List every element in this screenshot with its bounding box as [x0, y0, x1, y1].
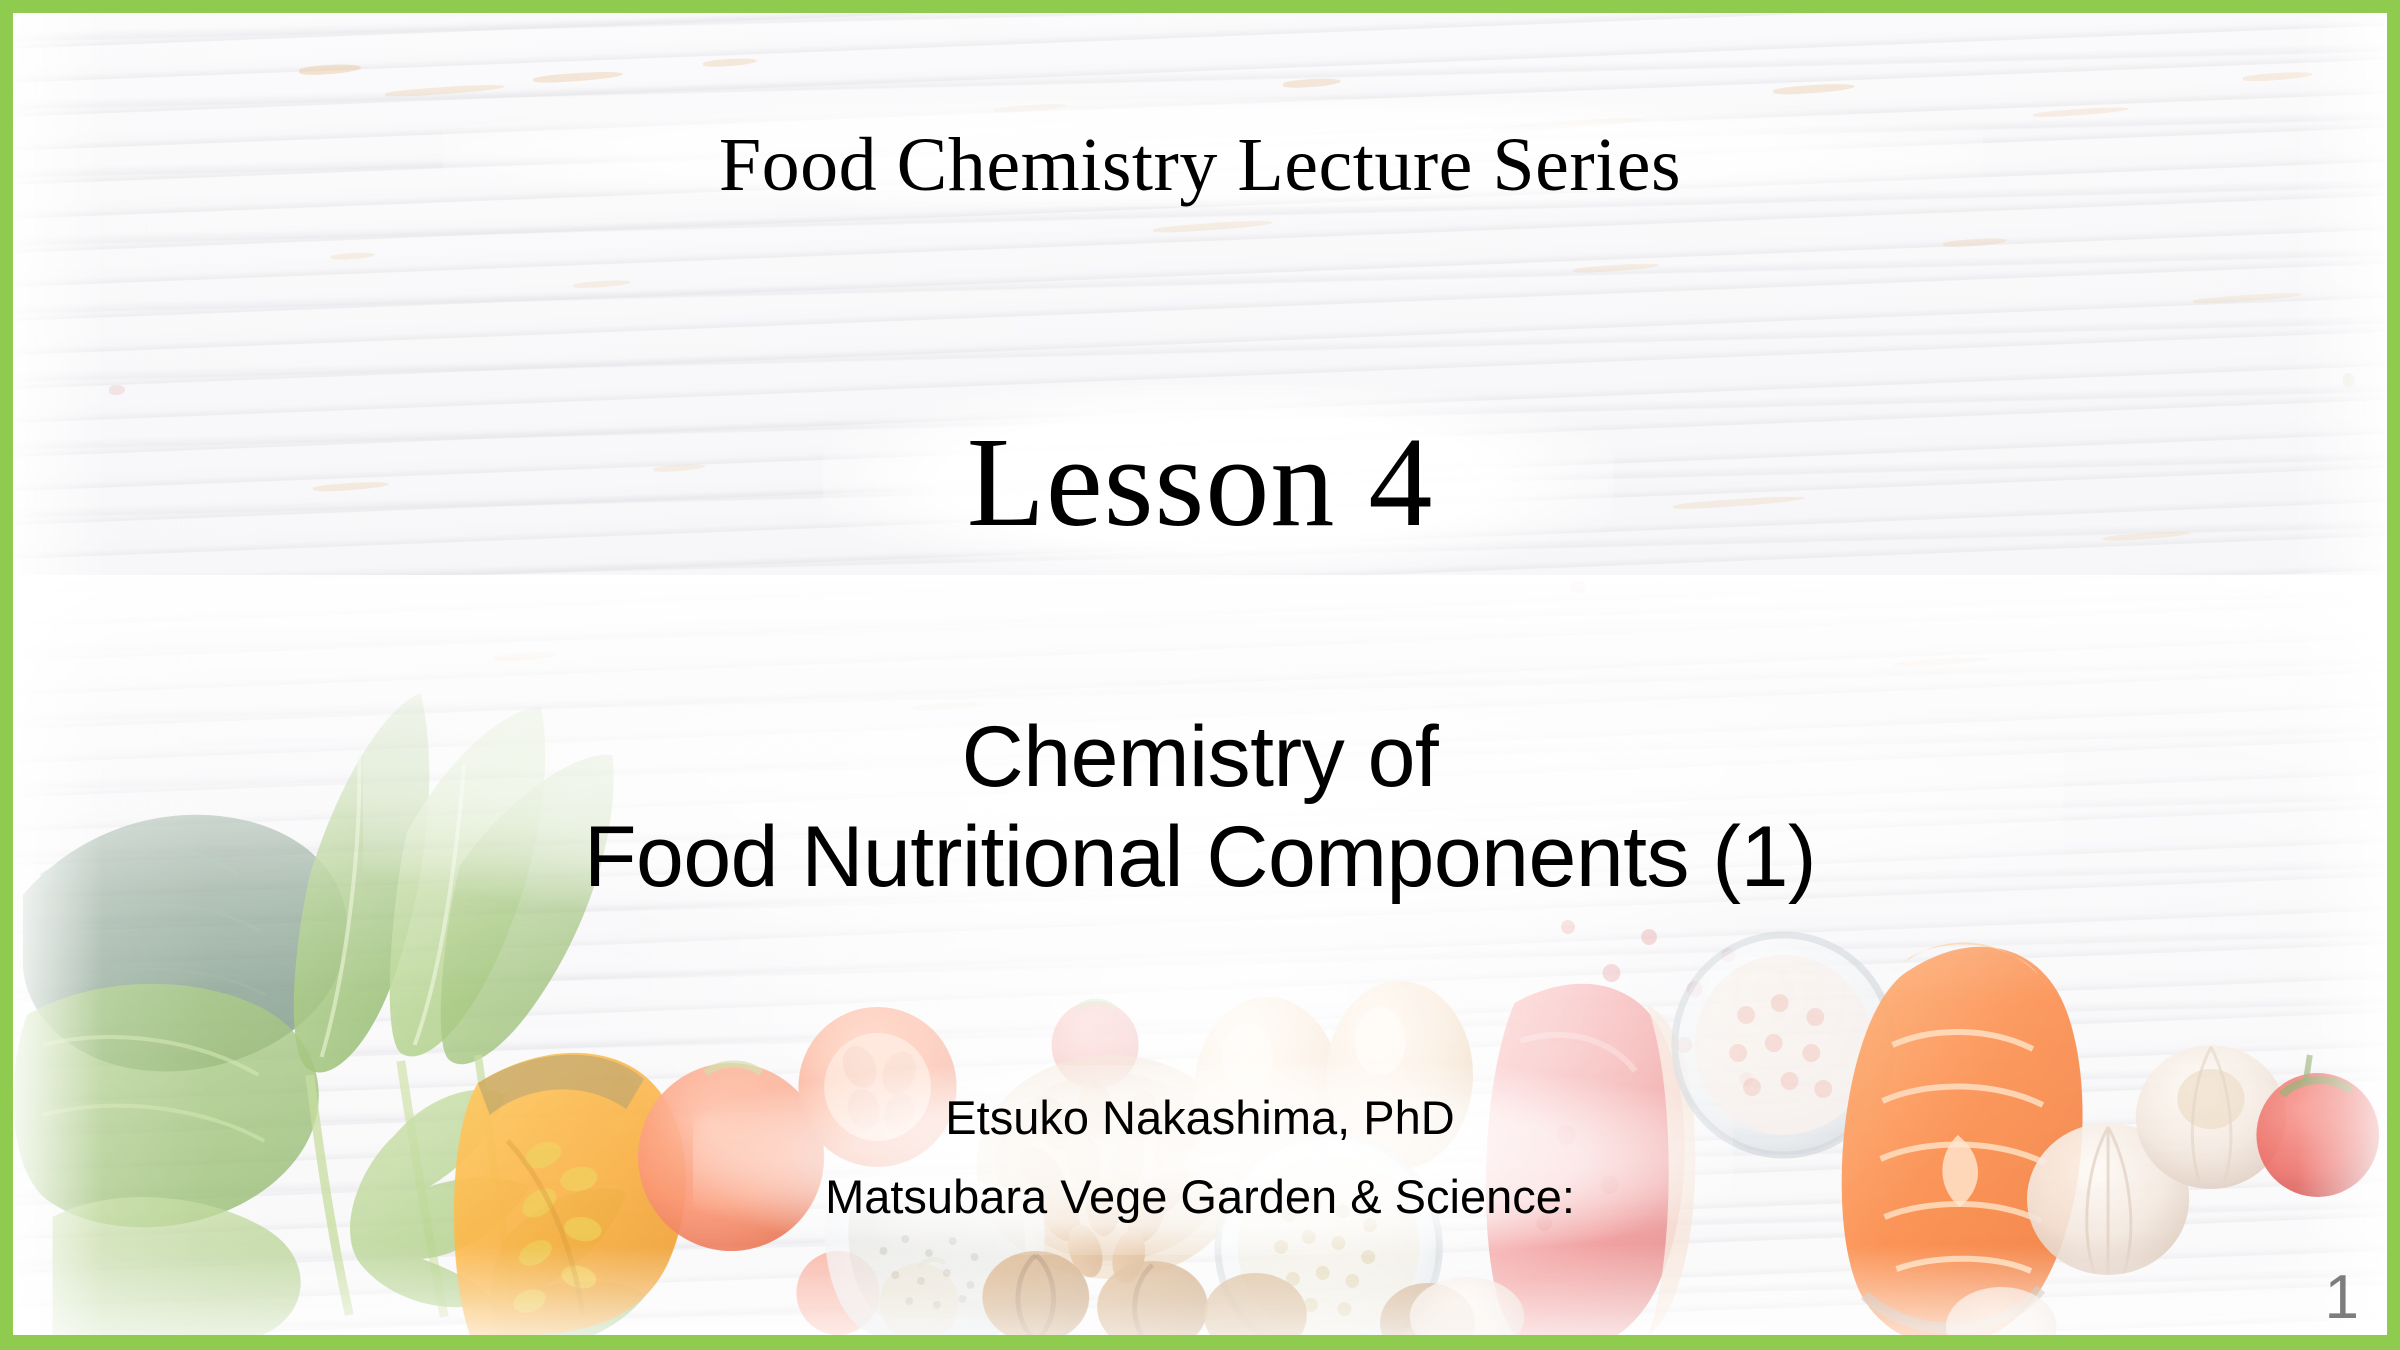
slide-content-area: Food Chemistry Lecture Series Lesson 4 C…	[13, 13, 2387, 1335]
lesson-subtitle: Chemistry of Food Nutritional Components…	[13, 708, 2387, 908]
slide-canvas: Food Chemistry Lecture Series Lesson 4 C…	[0, 0, 2400, 1350]
slide-page-number: 1	[2325, 1267, 2359, 1329]
author-name: Etsuko Nakashima, PhD	[13, 1091, 2387, 1146]
series-title: Food Chemistry Lecture Series	[13, 121, 2387, 209]
lesson-title: Lesson 4	[13, 408, 2387, 556]
slide-text-layer: Food Chemistry Lecture Series Lesson 4 C…	[13, 13, 2387, 1335]
author-organization: Matsubara Vege Garden & Science:	[13, 1170, 2387, 1225]
